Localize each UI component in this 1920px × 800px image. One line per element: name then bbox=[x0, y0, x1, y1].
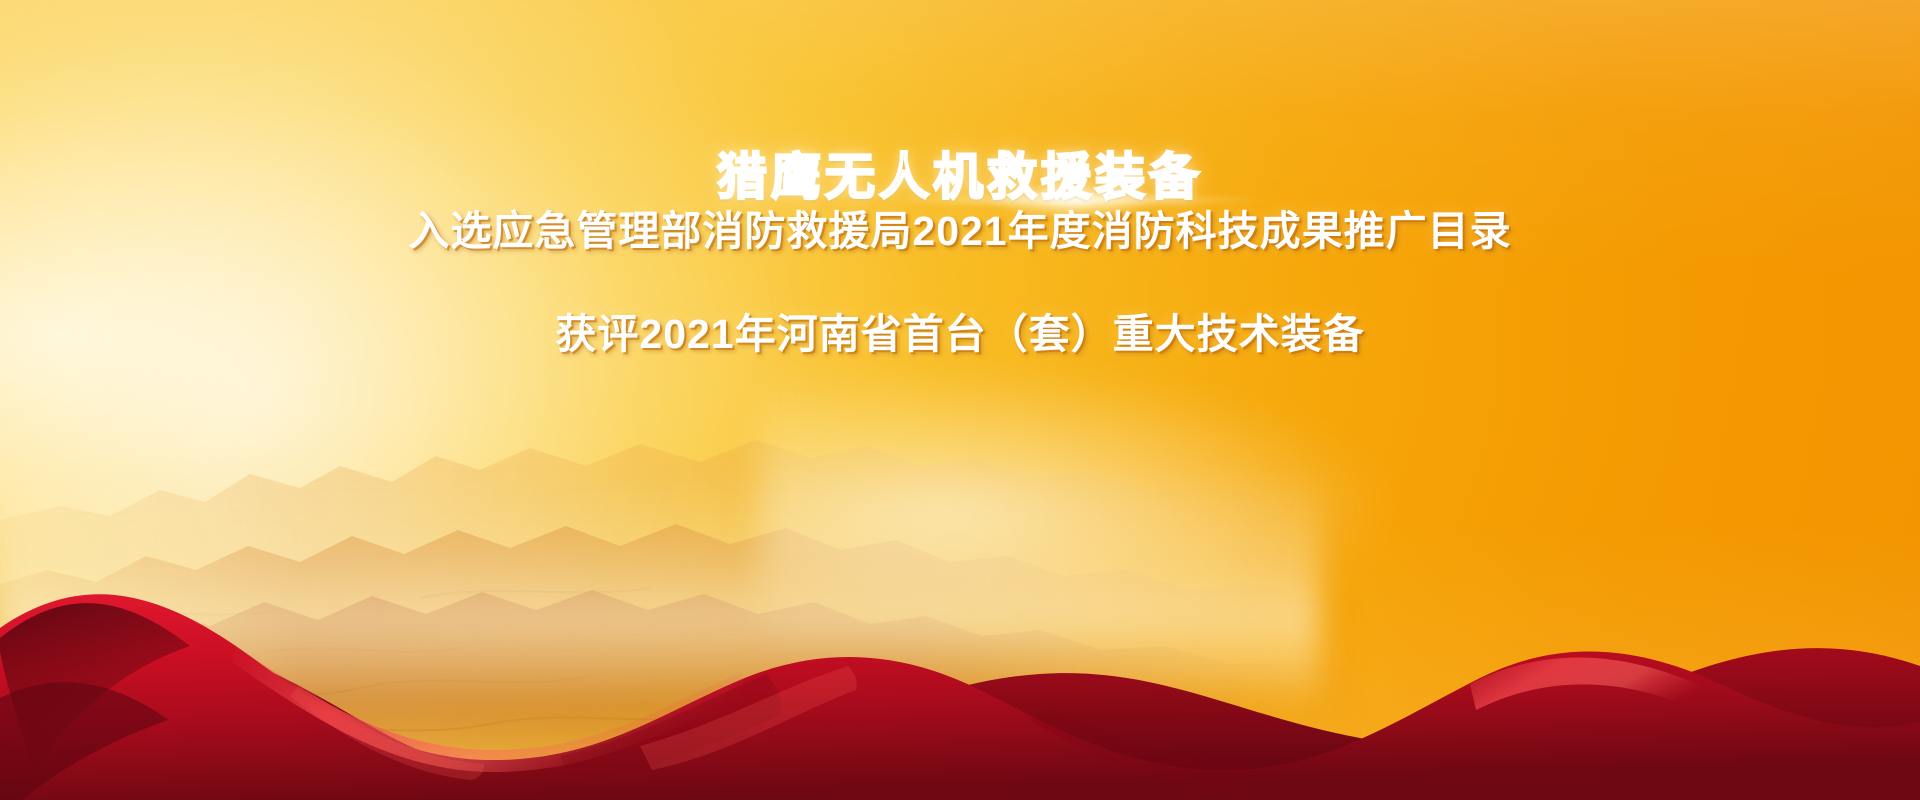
main-title-wrapper: 猎鹰无人机救援装备 bbox=[0, 112, 1920, 180]
promo-banner: 猎鹰无人机救援装备 入选应急管理部消防救援局2021年度消防科技成果推广目录 获… bbox=[0, 0, 1920, 800]
red-silk-ribbon-decoration bbox=[0, 470, 1920, 800]
subtitle-line-2: 获评2021年河南省首台（套）重大技术装备 bbox=[0, 303, 1920, 365]
banner-copy: 猎鹰无人机救援装备 入选应急管理部消防救援局2021年度消防科技成果推广目录 获… bbox=[0, 0, 1920, 406]
subtitle-line-1: 入选应急管理部消防救援局2021年度消防科技成果推广目录 bbox=[0, 200, 1920, 262]
page-title: 猎鹰无人机救援装备 bbox=[717, 146, 1203, 208]
